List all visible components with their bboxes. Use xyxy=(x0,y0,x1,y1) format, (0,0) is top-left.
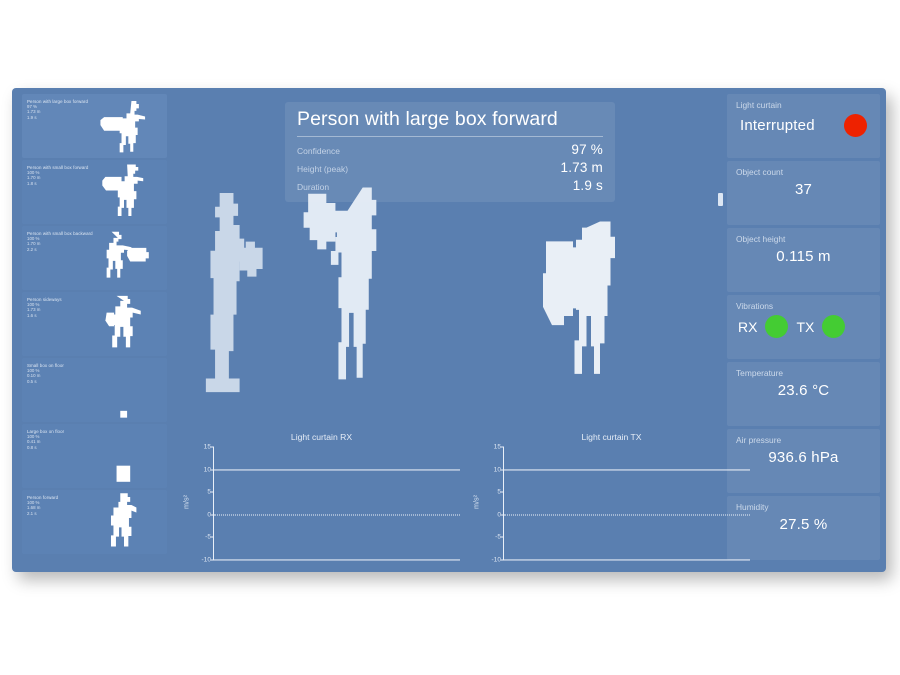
card-object-height[interactable]: Object height 0.115 m xyxy=(727,228,880,292)
scan-figure xyxy=(189,190,281,418)
monitor-screen: Person with large box forward97 %1.73 m1… xyxy=(12,88,886,572)
sidebar-edge-marker xyxy=(718,193,723,206)
y-axis-tick-mark xyxy=(211,492,214,493)
air-pressure-value: 936.6 hPa xyxy=(736,449,871,466)
history-item-figure-icon xyxy=(87,294,161,356)
chart-light-curtain-rx: Light curtain RX m/s² 151050-5-10 xyxy=(179,432,464,572)
history-item[interactable]: Person with large box forward97 %1.73 m1… xyxy=(22,94,167,158)
history-item-figure-icon xyxy=(87,162,161,224)
status-sidebar: Light curtain Interrupted Object count 3… xyxy=(727,94,880,572)
main-view: Person with large box forward Confidence… xyxy=(175,88,724,572)
history-item-figure-icon xyxy=(87,492,161,554)
card-humidity[interactable]: Humidity 27.5 % xyxy=(727,496,880,560)
chart-series-line xyxy=(504,469,750,470)
chart-series-line xyxy=(504,559,750,560)
y-axis-tick-label: 15 xyxy=(494,444,501,451)
chart-plot-area: 151050-5-10 xyxy=(503,447,750,560)
object-count-value: 37 xyxy=(736,181,871,198)
card-air-pressure[interactable]: Air pressure 936.6 hPa xyxy=(727,429,880,493)
history-item[interactable]: Person with small box forward100 %1.70 m… xyxy=(22,160,167,224)
y-axis-tick-label: 10 xyxy=(204,466,211,473)
chart-ylabel: m/s² xyxy=(471,495,480,509)
card-label: Vibrations xyxy=(736,301,871,311)
history-item-figure-icon xyxy=(87,360,161,422)
y-axis-tick-label: 10 xyxy=(494,466,501,473)
chart-series-line xyxy=(504,514,750,515)
scan-silhouettes xyxy=(175,188,724,418)
vibration-rx-indicator-icon xyxy=(765,315,788,338)
scan-figure xyxy=(293,186,393,418)
y-axis-tick-mark xyxy=(211,447,214,448)
y-axis-tick-label: 15 xyxy=(204,444,211,451)
history-item[interactable]: Person sideways100 %1.73 m1.6 s xyxy=(22,292,167,356)
detail-row-value: 1.73 m xyxy=(561,160,603,175)
history-item-figure-icon xyxy=(87,96,161,158)
chart-ylabel: m/s² xyxy=(181,495,190,509)
card-label: Humidity xyxy=(736,502,871,512)
y-axis-tick-label: -10 xyxy=(201,557,211,564)
vibration-tx-label: TX xyxy=(796,319,814,335)
detail-row-value: 97 % xyxy=(571,142,603,157)
history-item[interactable]: Person with small box backward100 %1.70 … xyxy=(22,226,167,290)
chart-title: Light curtain RX xyxy=(179,432,464,442)
chart-plot-area: 151050-5-10 xyxy=(213,447,460,560)
card-label: Object count xyxy=(736,167,871,177)
status-indicator-icon xyxy=(844,114,867,137)
y-axis-tick-label: -10 xyxy=(491,557,501,564)
vibration-rx-label: RX xyxy=(738,319,757,335)
y-axis-tick-mark xyxy=(501,537,504,538)
card-label: Temperature xyxy=(736,368,871,378)
detail-row: Height (peak)1.73 m xyxy=(297,158,603,176)
page-title: Person with large box forward xyxy=(297,108,603,136)
detail-row-label: Confidence xyxy=(297,146,340,156)
temperature-value: 23.6 °C xyxy=(736,382,871,399)
chart-series-line xyxy=(214,559,460,560)
y-axis-tick-mark xyxy=(211,537,214,538)
history-item-figure-icon xyxy=(87,426,161,488)
history-item-figure-icon xyxy=(87,228,161,290)
divider xyxy=(297,136,603,137)
history-item[interactable]: Large box on floor100 %0.41 m0.8 s xyxy=(22,424,167,488)
chart-series-line xyxy=(214,514,460,515)
card-label: Air pressure xyxy=(736,435,871,445)
card-vibrations[interactable]: Vibrations RX TX xyxy=(727,295,880,359)
light-curtain-value: Interrupted xyxy=(740,117,815,134)
detail-row-label: Height (peak) xyxy=(297,164,348,174)
chart-title: Light curtain TX xyxy=(469,432,754,442)
detail-row: Confidence97 % xyxy=(297,140,603,158)
humidity-value: 27.5 % xyxy=(736,516,871,533)
history-item[interactable]: Small box on floor100 %0.10 m0.5 s xyxy=(22,358,167,422)
card-label: Light curtain xyxy=(736,100,871,110)
card-label: Object height xyxy=(736,234,871,244)
object-height-value: 0.115 m xyxy=(736,248,871,265)
vibration-tx-indicator-icon xyxy=(822,315,845,338)
card-light-curtain[interactable]: Light curtain Interrupted xyxy=(727,94,880,158)
chart-light-curtain-tx: Light curtain TX m/s² 151050-5-10 xyxy=(469,432,754,572)
y-axis-tick-mark xyxy=(501,447,504,448)
chart-series-line xyxy=(214,469,460,470)
detection-history-list[interactable]: Person with large box forward97 %1.73 m1… xyxy=(22,94,167,572)
history-item[interactable]: Person forward100 %1.68 m2.1 s xyxy=(22,490,167,554)
scan-figure xyxy=(525,220,633,418)
card-object-count[interactable]: Object count 37 xyxy=(727,161,880,225)
y-axis-tick-mark xyxy=(501,492,504,493)
card-temperature[interactable]: Temperature 23.6 °C xyxy=(727,362,880,426)
